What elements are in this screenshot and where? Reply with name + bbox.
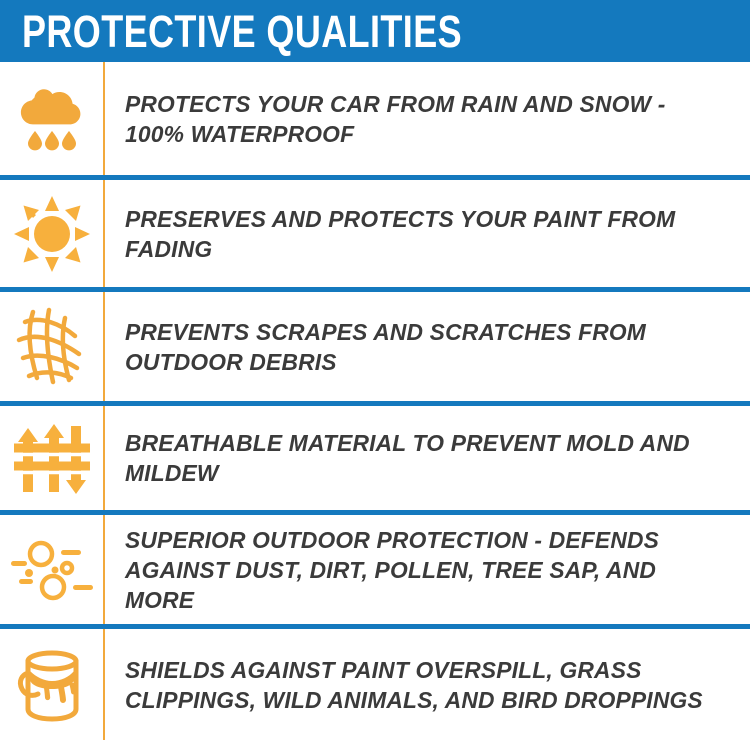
- text-cell: PREVENTS SCRAPES AND SCRATCHES FROM OUTD…: [105, 317, 750, 377]
- list-item: PRESERVES AND PROTECTS YOUR PAINT FROM F…: [0, 175, 750, 287]
- breathable-airflow-arrows-icon: [14, 418, 90, 498]
- protective-qualities-infographic: PROTECTIVE QUALITIES PROTEC: [0, 0, 750, 750]
- scratched-mesh-icon: [13, 306, 91, 388]
- icon-cell: [0, 406, 105, 510]
- list-item: SHIELDS AGAINST PAINT OVERSPILL, GRASS C…: [0, 624, 750, 740]
- list-item: PROTECTS YOUR CAR FROM RAIN AND SNOW - 1…: [0, 62, 750, 175]
- page-title: PROTECTIVE QUALITIES: [22, 9, 462, 54]
- text-cell: SHIELDS AGAINST PAINT OVERSPILL, GRASS C…: [105, 655, 750, 715]
- list-item: SUPERIOR OUTDOOR PROTECTION - DEFENDS AG…: [0, 510, 750, 624]
- list-item: BREATHABLE MATERIAL TO PREVENT MOLD AND …: [0, 401, 750, 510]
- icon-cell: [0, 62, 105, 175]
- list-item: PREVENTS SCRAPES AND SCRATCHES FROM OUTD…: [0, 287, 750, 401]
- sun-icon: [14, 196, 90, 272]
- list-item-label: PROTECTS YOUR CAR FROM RAIN AND SNOW - 1…: [125, 89, 718, 149]
- feature-list: PROTECTS YOUR CAR FROM RAIN AND SNOW - 1…: [0, 62, 750, 740]
- header-bar: PROTECTIVE QUALITIES: [0, 0, 750, 62]
- rain-cloud-icon: [17, 83, 87, 155]
- list-item-label: SHIELDS AGAINST PAINT OVERSPILL, GRASS C…: [125, 655, 718, 715]
- list-item-label: PRESERVES AND PROTECTS YOUR PAINT FROM F…: [125, 204, 718, 264]
- text-cell: BREATHABLE MATERIAL TO PREVENT MOLD AND …: [105, 428, 750, 488]
- text-cell: PRESERVES AND PROTECTS YOUR PAINT FROM F…: [105, 204, 750, 264]
- icon-cell: [0, 292, 105, 401]
- list-item-label: BREATHABLE MATERIAL TO PREVENT MOLD AND …: [125, 428, 718, 488]
- list-item-label: PREVENTS SCRAPES AND SCRATCHES FROM OUTD…: [125, 317, 718, 377]
- dust-particles-icon: [11, 537, 93, 603]
- icon-cell: [0, 180, 105, 287]
- icon-cell: [0, 515, 105, 624]
- text-cell: PROTECTS YOUR CAR FROM RAIN AND SNOW - 1…: [105, 89, 750, 149]
- text-cell: SUPERIOR OUTDOOR PROTECTION - DEFENDS AG…: [105, 525, 750, 615]
- icon-cell: [0, 629, 105, 740]
- list-item-label: SUPERIOR OUTDOOR PROTECTION - DEFENDS AG…: [125, 525, 718, 615]
- paint-can-icon: [14, 645, 90, 725]
